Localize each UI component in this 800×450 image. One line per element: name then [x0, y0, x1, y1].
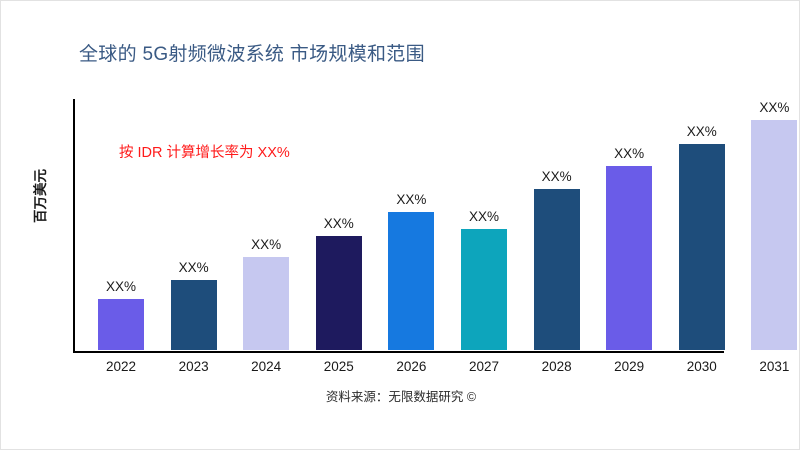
- bar-value-label-2031: XX%: [742, 100, 800, 115]
- bar-2031[interactable]: [751, 120, 797, 350]
- bar-2030[interactable]: [679, 144, 725, 350]
- bar-2027[interactable]: [461, 229, 507, 350]
- x-tick-label-2025: 2025: [299, 359, 379, 374]
- bar-group: XX%: [679, 97, 725, 350]
- bar-group: XX%: [606, 97, 652, 350]
- bar-value-label-2025: XX%: [307, 216, 371, 231]
- bar-2029[interactable]: [606, 166, 652, 350]
- bar-group: XX%: [534, 97, 580, 350]
- bar-value-label-2029: XX%: [597, 146, 661, 161]
- x-tick-label-2030: 2030: [662, 359, 742, 374]
- bar-group: XX%: [461, 97, 507, 350]
- bar-2022[interactable]: [98, 299, 144, 350]
- growth-rate-annotation: 按 IDR 计算增长率为 XX%: [119, 141, 290, 162]
- bar-2026[interactable]: [388, 212, 434, 350]
- page-title: 全球的 5G射频微波系统 市场规模和范围: [79, 39, 425, 66]
- bar-2025[interactable]: [316, 236, 362, 350]
- bar-value-label-2022: XX%: [89, 279, 153, 294]
- x-tick-label-2028: 2028: [517, 359, 597, 374]
- bar-value-label-2026: XX%: [379, 192, 443, 207]
- x-tick-label-2026: 2026: [371, 359, 451, 374]
- bar-value-label-2030: XX%: [670, 124, 734, 139]
- bar-group: XX%: [316, 97, 362, 350]
- x-axis-line: [73, 351, 724, 353]
- source-note: 资料来源：无限数据研究 ©: [1, 386, 800, 405]
- bar-value-label-2024: XX%: [234, 237, 298, 252]
- chart-container: 全球的 5G射频微波系统 市场规模和范围 百万美元 XX%XX%XX%XX%XX…: [0, 0, 800, 450]
- bar-value-label-2023: XX%: [162, 260, 226, 275]
- y-axis-line: [73, 99, 75, 352]
- bar-value-label-2028: XX%: [525, 169, 589, 184]
- bar-group: XX%: [388, 97, 434, 350]
- x-tick-label-2023: 2023: [154, 359, 234, 374]
- bar-group: XX%: [751, 97, 797, 350]
- bar-value-label-2027: XX%: [452, 209, 516, 224]
- x-tick-label-2031: 2031: [734, 359, 800, 374]
- y-axis-label: 百万美元: [29, 136, 49, 256]
- bar-group: XX%: [243, 97, 289, 350]
- x-tick-label-2027: 2027: [444, 359, 524, 374]
- x-tick-label-2022: 2022: [81, 359, 161, 374]
- plot-area: XX%XX%XX%XX%XX%XX%XX%XX%XX%XX%: [73, 99, 783, 352]
- x-tick-label-2029: 2029: [589, 359, 669, 374]
- bar-2023[interactable]: [171, 280, 217, 350]
- bar-2024[interactable]: [243, 257, 289, 350]
- bar-2028[interactable]: [534, 189, 580, 350]
- x-tick-label-2024: 2024: [226, 359, 306, 374]
- bar-group: XX%: [171, 97, 217, 350]
- bar-group: XX%: [98, 97, 144, 350]
